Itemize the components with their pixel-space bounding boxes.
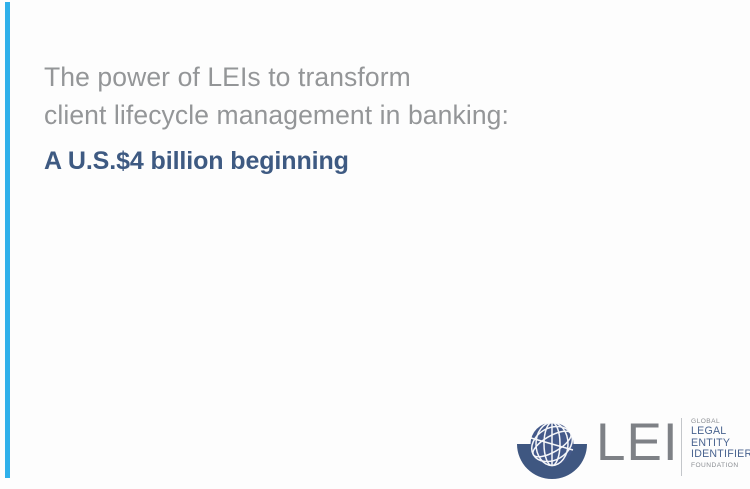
title-subtitle: A U.S.$4 billion beginning [44,142,664,180]
wordmark-foundation: FOUNDATION [691,461,750,470]
title-line-1: The power of LEIs to transform [44,58,664,96]
title-line-2: client lifecycle management in banking: [44,96,664,134]
logo-lei-text: LEI [596,414,679,472]
wordmark-identifier: IDENTIFIER [691,449,750,461]
gleif-globe-icon [514,407,590,481]
left-accent-bar [5,2,10,478]
title-block: The power of LEIs to transform client li… [44,58,664,180]
title-slide: The power of LEIs to transform client li… [0,0,750,489]
gleif-logo: LEI GLOBAL LEGAL ENTITY IDENTIFIER FOUND… [514,406,742,482]
wordmark-legal: LEGAL [691,426,750,438]
logo-divider [681,418,682,476]
gleif-wordmark: GLOBAL LEGAL ENTITY IDENTIFIER FOUNDATIO… [691,417,750,470]
